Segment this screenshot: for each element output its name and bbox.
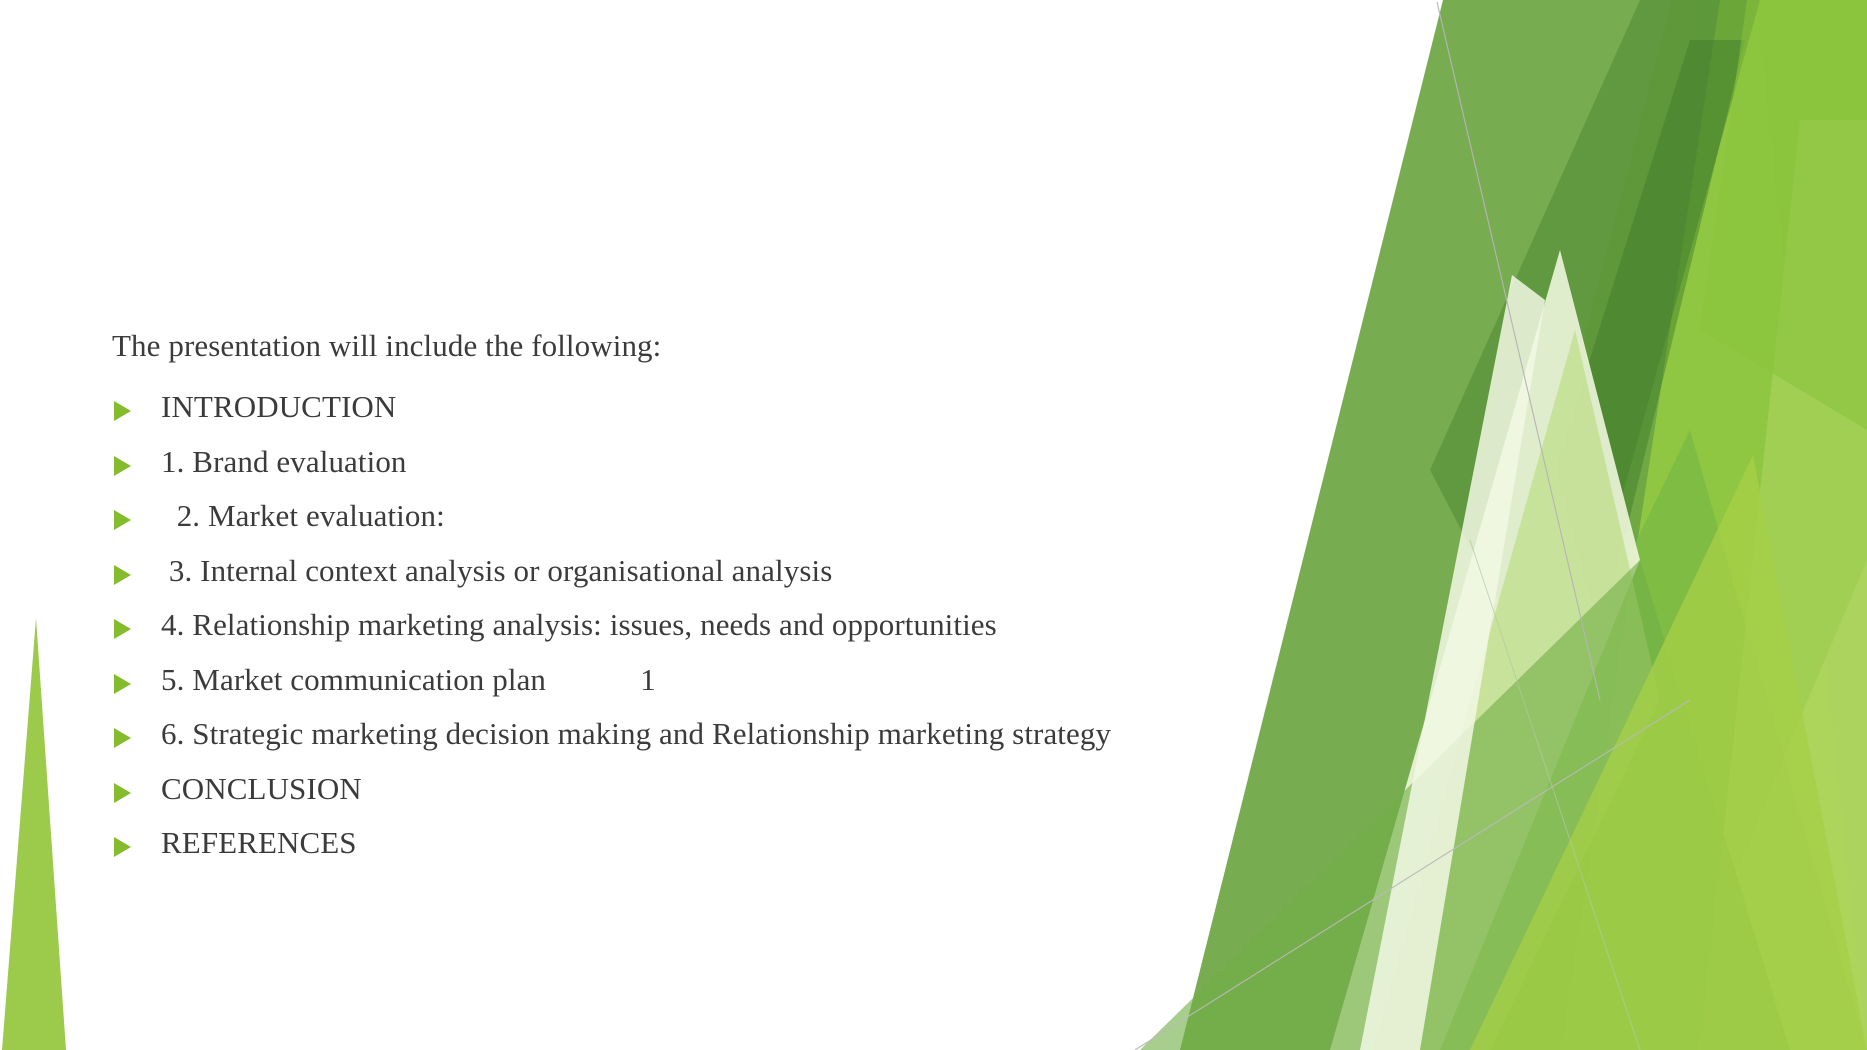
list-item[interactable]: INTRODUCTION: [112, 391, 1292, 425]
list-item-label: 3. Internal context analysis or organisa…: [161, 555, 832, 588]
triangle-bullet-icon: [112, 617, 133, 641]
list-item[interactable]: 2. Market evaluation:: [112, 500, 1292, 534]
list-item[interactable]: 1. Brand evaluation: [112, 446, 1292, 480]
list-item-label: INTRODUCTION: [161, 391, 396, 424]
slide-content-body: The presentation will include the follow…: [112, 330, 1292, 882]
triangle-bullet-icon: [112, 835, 133, 859]
triangle-bullet-icon: [112, 454, 133, 478]
triangle-bullet-icon: [112, 399, 133, 423]
list-item-label: 2. Market evaluation:: [161, 500, 445, 533]
left-green-spike: [2, 618, 66, 1050]
triangle-bullet-icon: [112, 563, 133, 587]
list-item-label: 5. Market communication plan 1: [161, 664, 656, 697]
triangle-bullet-icon: [112, 726, 133, 750]
list-item-label: CONCLUSION: [161, 773, 362, 806]
triangle-bullet-icon: [112, 781, 133, 805]
intro-paragraph: The presentation will include the follow…: [112, 330, 1292, 361]
list-item-label: 1. Brand evaluation: [161, 446, 407, 479]
list-item[interactable]: CONCLUSION: [112, 773, 1292, 807]
list-item[interactable]: REFERENCES: [112, 827, 1292, 861]
list-item[interactable]: 5. Market communication plan 1: [112, 664, 1292, 698]
triangle-bullet-icon: [112, 672, 133, 696]
list-item[interactable]: 3. Internal context analysis or organisa…: [112, 555, 1292, 589]
list-item-label: REFERENCES: [161, 827, 357, 860]
list-item-label: 4. Relationship marketing analysis: issu…: [161, 609, 997, 642]
list-item[interactable]: 6. Strategic marketing decision making a…: [112, 718, 1292, 752]
list-item[interactable]: 4. Relationship marketing analysis: issu…: [112, 609, 1292, 643]
presentation-slide: The presentation will include the follow…: [0, 0, 1867, 1050]
list-item-label: 6. Strategic marketing decision making a…: [161, 718, 1111, 751]
triangle-bullet-icon: [112, 508, 133, 532]
agenda-bullet-list: INTRODUCTION 1. Brand evaluation 2. Mark…: [112, 391, 1292, 861]
